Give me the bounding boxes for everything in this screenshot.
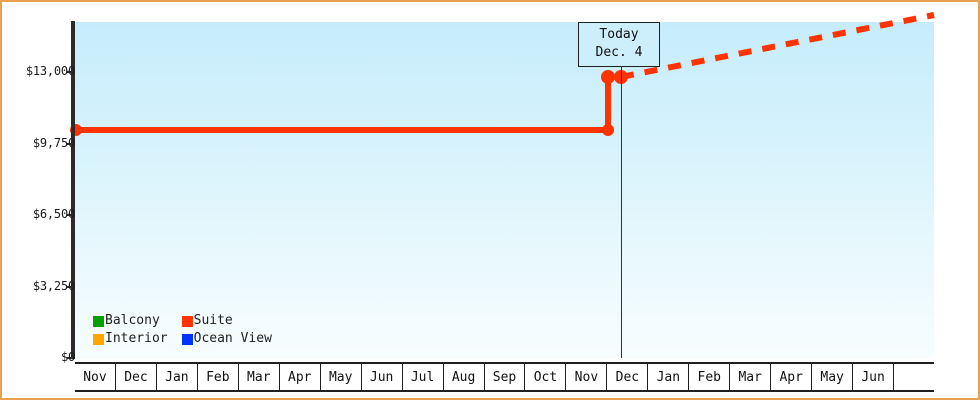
y-axis-label-6500: $6,500 <box>13 208 75 220</box>
today-callout: Today Dec. 4 <box>578 22 660 67</box>
x-axis-month-cell[interactable]: Nov <box>566 364 607 390</box>
y-axis-label-3250: $3,250 <box>13 280 75 292</box>
x-axis-month-cell[interactable]: May <box>812 364 853 390</box>
x-axis-month-cell-empty <box>894 364 934 390</box>
x-axis-month-cell[interactable]: Jun <box>853 364 894 390</box>
x-axis-month-cell[interactable]: Mar <box>239 364 280 390</box>
today-vertical-rule <box>621 22 622 358</box>
series-line-suite-forecast <box>621 15 934 77</box>
x-axis-month-cell[interactable]: Jan <box>157 364 198 390</box>
y-axis: $13,000 $9,750 $6,500 $3,250 $0 <box>2 2 75 400</box>
x-axis-month-cell[interactable]: Sep <box>485 364 526 390</box>
series-layer <box>75 22 934 358</box>
y-axis-label-9750: $9,750 <box>13 137 75 149</box>
legend-item-ocean-view[interactable]: Ocean View <box>182 331 272 347</box>
legend-swatch-ocean-view-icon <box>182 334 193 345</box>
today-callout-line1: Today <box>587 26 651 44</box>
legend-swatch-suite-icon <box>182 316 193 327</box>
x-axis-month-cell[interactable]: Jan <box>648 364 689 390</box>
series-point-suite-step-low <box>602 124 614 136</box>
x-axis-month-strip: Nov Dec Jan Feb Mar Apr May Jun Jul Aug … <box>75 362 934 392</box>
series-line-suite-actual <box>75 77 621 130</box>
x-axis-month-cell[interactable]: Jun <box>362 364 403 390</box>
price-history-chart: $13,000 $9,750 $6,500 $3,250 $0 Today De… <box>0 0 980 400</box>
x-axis-month-cell[interactable]: Jul <box>403 364 444 390</box>
y-axis-label-0: $0 <box>13 351 75 363</box>
x-axis-month-cell[interactable]: Aug <box>444 364 485 390</box>
x-axis-month-cell[interactable]: Dec <box>116 364 157 390</box>
legend-swatch-balcony-icon <box>93 316 104 327</box>
legend-label-interior: Interior <box>105 331 168 347</box>
legend-label-suite: Suite <box>194 313 233 329</box>
x-axis-month-cell[interactable]: Mar <box>730 364 771 390</box>
x-axis-month-cell[interactable]: Apr <box>771 364 812 390</box>
x-axis-month-cell[interactable]: Dec <box>607 364 648 390</box>
y-axis-label-13000: $13,000 <box>13 65 75 77</box>
x-axis-month-cell[interactable]: Feb <box>689 364 730 390</box>
legend-item-interior[interactable]: Interior <box>93 331 168 347</box>
x-axis-month-cell[interactable]: May <box>321 364 362 390</box>
today-callout-line2: Dec. 4 <box>587 44 651 62</box>
legend-item-balcony[interactable]: Balcony <box>93 313 168 329</box>
x-axis-month-cell[interactable]: Oct <box>525 364 566 390</box>
legend-swatch-interior-icon <box>93 334 104 345</box>
x-axis-month-cell[interactable]: Apr <box>280 364 321 390</box>
legend-label-ocean-view: Ocean View <box>194 331 272 347</box>
legend-item-suite[interactable]: Suite <box>182 313 272 329</box>
plot-area <box>75 22 934 358</box>
series-point-suite-step-high <box>601 70 615 84</box>
x-axis-month-cell[interactable]: Feb <box>198 364 239 390</box>
x-axis-month-cell[interactable]: Nov <box>75 364 116 390</box>
legend-label-balcony: Balcony <box>105 313 160 329</box>
legend: Balcony Suite Interior Ocean View <box>93 313 272 347</box>
